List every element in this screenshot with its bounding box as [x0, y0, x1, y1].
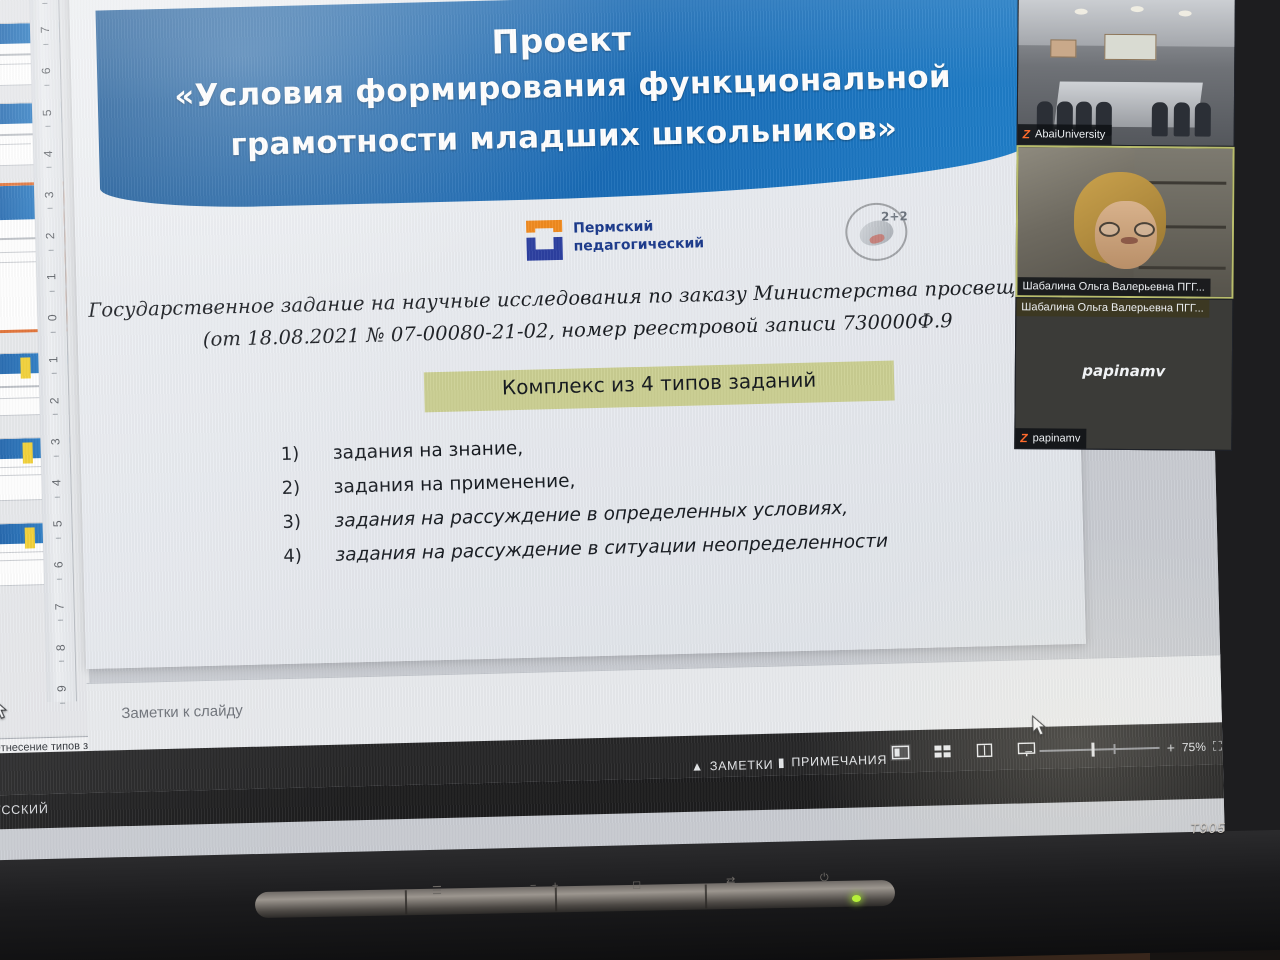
- ruler-tick: 7: [38, 15, 53, 45]
- participant-name-tag: Z AbaiUniversity: [1018, 124, 1112, 145]
- perm-pedagogical-logo-icon: [523, 217, 566, 264]
- slide-surface: Проект «Условия формирования функциональ…: [68, 0, 1085, 669]
- participant-name-tag-top: Шабалина Ольга Валерьевна ПГГ...: [1016, 298, 1210, 318]
- language-indicator[interactable]: РУССКИЙ: [0, 802, 49, 818]
- zoom-slider-handle[interactable]: [1092, 743, 1095, 757]
- monitor-model-label: T905: [1148, 819, 1268, 837]
- input-button-icon[interactable]: ⇄: [726, 874, 735, 887]
- comment-icon: ▮: [778, 754, 786, 769]
- ruler-tick: 7: [52, 591, 67, 621]
- ruler-tick: 3: [48, 427, 63, 457]
- ruler-minor-mark: [56, 538, 61, 539]
- zoom-out-icon[interactable]: −: [1024, 743, 1033, 759]
- notes-icon: ▲: [691, 759, 704, 773]
- ruler-minor-mark: [60, 702, 65, 703]
- ruler-tick: 6: [51, 550, 66, 580]
- ruler-minor-mark: [57, 579, 62, 580]
- plus-button-icon[interactable]: +: [552, 880, 559, 892]
- participant-name-top: Шабалина Ольга Валерьевна ПГГ...: [1021, 301, 1203, 314]
- zoom-logo-icon: Z: [1020, 431, 1027, 445]
- ruler-minor-mark: [54, 455, 59, 456]
- participant-name-tag: Z papinamv: [1015, 428, 1086, 449]
- ruler-minor-mark: [46, 167, 51, 168]
- ruler-minor-mark: [48, 208, 53, 209]
- ruler-tick: 1: [46, 344, 61, 374]
- circle-badge-text: 2+2: [881, 209, 908, 224]
- task-type-number: 4): [283, 546, 302, 567]
- task-type-text: задания на применение,: [333, 471, 575, 498]
- zoom-percent-label: 75%: [1182, 740, 1206, 755]
- minus-button-icon[interactable]: −: [530, 880, 537, 892]
- ruler-tick: 2: [43, 221, 58, 251]
- task-type-number: 2): [281, 478, 300, 499]
- video-tile-room[interactable]: Z AbaiUniversity: [1017, 0, 1236, 147]
- task-type-text: задания на знание,: [333, 438, 524, 464]
- ruler-minor-mark: [58, 620, 63, 621]
- slide-title-line1: Проект: [96, 9, 1027, 72]
- zoom-control[interactable]: − + 75% ⛶: [1024, 738, 1222, 759]
- ruler-minor-mark: [55, 496, 60, 497]
- zoom-in-icon[interactable]: +: [1167, 740, 1176, 756]
- comments-button-label: ПРИМЕЧАНИЯ: [791, 752, 887, 768]
- video-tile-muted[interactable]: Шабалина Ольга Валерьевна ПГГ... papinam…: [1014, 297, 1233, 451]
- video-tile-speaker[interactable]: Шабалина Ольга Валерьевна ПГГ...: [1015, 145, 1234, 299]
- task-type-number: 1): [281, 444, 300, 465]
- perm-logo-text: Пермский педагогический: [573, 217, 704, 255]
- ruler-tick: 6: [39, 56, 54, 86]
- video-conference-panel: Z AbaiUniversity Шабалина Ольга Валерьев…: [1014, 0, 1236, 451]
- slide-title-line2: «Условия формирования функциональной: [97, 57, 1028, 117]
- ruler-minor-mark: [50, 291, 55, 292]
- notes-button[interactable]: ▲ ЗАМЕТКИ: [691, 758, 774, 774]
- muted-participant-label: papinamv: [1016, 361, 1232, 381]
- slide-canvas[interactable]: Проект «Условия формирования функциональ…: [68, 0, 1085, 669]
- ruler-minor-mark: [59, 661, 64, 662]
- speaker-video-feed: [1017, 147, 1232, 297]
- slide-title-line3: грамотности младших школьников»: [99, 107, 1030, 167]
- auto-button-icon[interactable]: ◻: [632, 878, 641, 891]
- task-type-list: 1)задания на знание,2)задания на примене…: [281, 425, 1044, 572]
- fit-to-window-icon[interactable]: ⛶: [1213, 738, 1223, 754]
- ruler-minor-mark: [53, 414, 58, 415]
- comments-button[interactable]: ▮ ПРИМЕЧАНИЯ: [778, 752, 888, 770]
- ruler-tick: 4: [41, 138, 56, 168]
- participant-name: AbaiUniversity: [1035, 128, 1105, 141]
- ruler-minor-mark: [43, 44, 48, 45]
- ruler-tick: 2: [47, 385, 62, 415]
- participant-name: papinamv: [1033, 432, 1081, 444]
- ruler-tick: 8: [53, 632, 68, 662]
- ruler-minor-mark: [51, 332, 56, 333]
- zoom-logo-icon: Z: [1023, 127, 1030, 141]
- task-type-number: 3): [282, 512, 301, 533]
- participant-name-tag: Шабалина Ольга Валерьевна ПГГ...: [1017, 277, 1211, 297]
- photo-of-monitor: ▼ Отнесение типов заданий и... 876543210…: [0, 0, 1280, 960]
- ruler-tick: 0: [45, 303, 60, 333]
- ruler-tick: 1: [44, 262, 59, 292]
- ruler-minor-mark: [44, 85, 49, 86]
- ruler-tick: 5: [50, 509, 65, 539]
- logo-row: Пермский педагогический 2+2: [75, 196, 1076, 283]
- circle-badge-logo-icon: 2+2: [845, 202, 908, 262]
- ruler-tick: 4: [49, 468, 64, 498]
- ruler-minor-mark: [52, 373, 57, 374]
- ruler-tick: 5: [40, 97, 55, 127]
- participant-name: Шабалина Ольга Валерьевна ПГГ...: [1022, 280, 1204, 293]
- ruler-tick: 3: [42, 180, 57, 210]
- ruler-minor-mark: [45, 126, 50, 127]
- reading-view-icon[interactable]: [974, 742, 994, 759]
- ruler-tick: 9: [54, 674, 69, 704]
- slide-sorter-icon[interactable]: [932, 743, 952, 760]
- normal-view-icon[interactable]: [890, 744, 910, 761]
- view-switcher[interactable]: [890, 741, 1036, 761]
- power-button-icon[interactable]: ⏻: [820, 872, 829, 885]
- notes-button-label: ЗАМЕТКИ: [710, 758, 774, 774]
- slide-title-banner: Проект «Условия формирования функциональ…: [96, 0, 1031, 211]
- menu-button-icon[interactable]: ☰: [432, 884, 442, 897]
- perm-logo-line2: педагогический: [573, 235, 704, 256]
- ruler-minor-mark: [49, 249, 54, 250]
- zoom-slider-track[interactable]: [1040, 747, 1160, 752]
- ruler-minor-mark: [42, 2, 47, 3]
- notes-placeholder: Заметки к слайду: [121, 702, 243, 722]
